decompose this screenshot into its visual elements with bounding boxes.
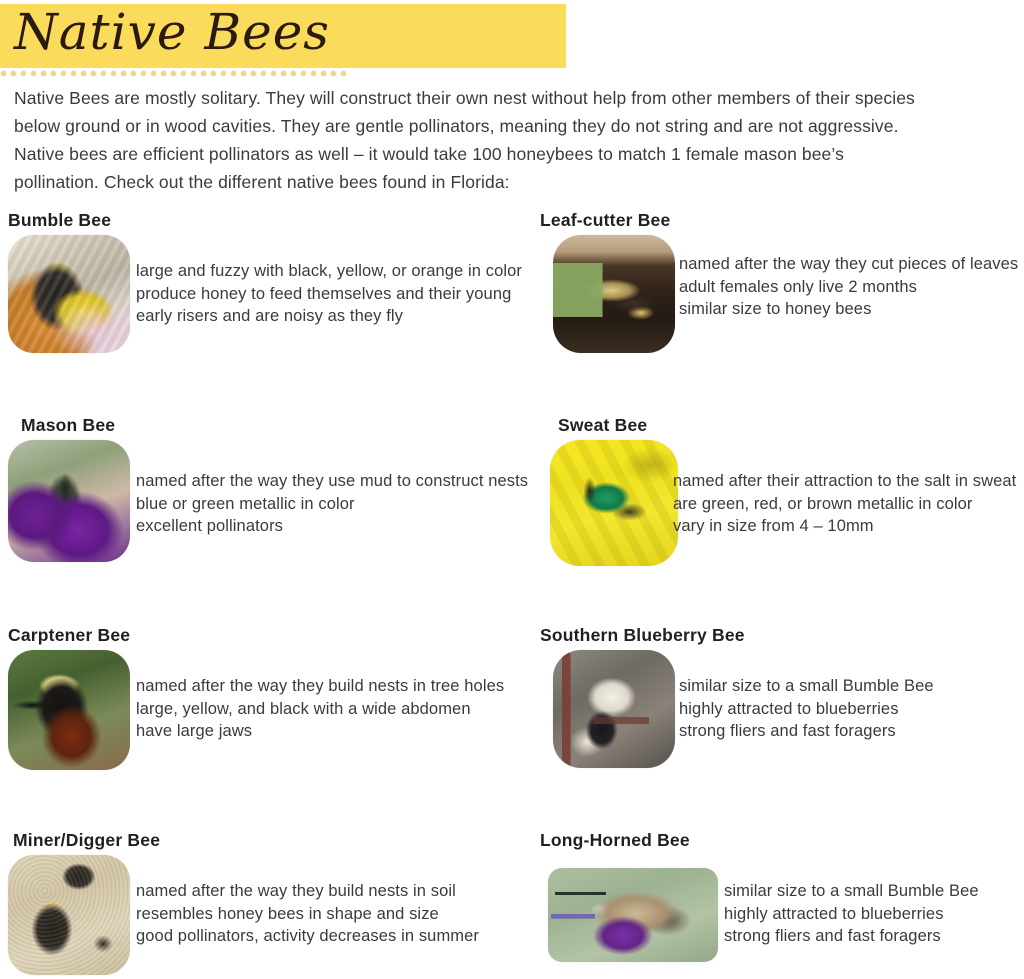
bee-name: Long-Horned Bee (540, 830, 690, 851)
bee-facts: named after the way they cut pieces of l… (679, 253, 1018, 321)
intro-paragraph: Native Bees are mostly solitary. They wi… (14, 84, 1014, 196)
sweat-bee-photo (550, 440, 678, 566)
bee-name: Leaf-cutter Bee (540, 210, 670, 231)
bee-fact: good pollinators, activity decreases in … (136, 925, 479, 948)
bumble-bee-photo (8, 235, 130, 353)
bee-entry-bumble-bee: Bumble Bee large and fuzzy with black, y… (8, 210, 528, 360)
bee-facts: named after their attraction to the salt… (673, 470, 1016, 538)
dotted-divider (0, 70, 348, 77)
intro-line: below ground or in wood cavities. They a… (14, 112, 1014, 140)
bee-fact: highly attracted to blueberries (724, 903, 979, 926)
bee-fact: vary in size from 4 – 10mm (673, 515, 1016, 538)
bee-name: Carptener Bee (8, 625, 130, 646)
bee-entry-miner-digger-bee: Miner/Digger Bee named after the way the… (8, 830, 528, 979)
long-horned-bee-photo (548, 868, 718, 962)
bee-fact: named after the way they use mud to cons… (136, 470, 528, 493)
bee-name: Southern Blueberry Bee (540, 625, 745, 646)
bee-fact: strong fliers and fast foragers (724, 925, 979, 948)
southern-blueberry-bee-photo (553, 650, 675, 768)
bee-entry-southern-blueberry-bee: Southern Blueberry Bee similar size to a… (540, 625, 1024, 775)
bee-fact: adult females only live 2 months (679, 276, 1018, 299)
carpenter-bee-photo (8, 650, 130, 770)
bee-name: Bumble Bee (8, 210, 111, 231)
bee-fact: named after the way they cut pieces of l… (679, 253, 1018, 276)
bee-name: Miner/Digger Bee (13, 830, 160, 851)
bee-facts: similar size to a small Bumble Bee highl… (679, 675, 934, 743)
title-banner: Native Bees (0, 4, 566, 68)
bee-entry-carpenter-bee: Carptener Bee named after the way they b… (8, 625, 528, 775)
bee-fact: similar size to a small Bumble Bee (724, 880, 979, 903)
miner-digger-bee-photo (8, 855, 130, 975)
bee-fact: are green, red, or brown metallic in col… (673, 493, 1016, 516)
bee-entry-leaf-cutter-bee: Leaf-cutter Bee named after the way they… (540, 210, 1024, 360)
bee-fact: similar size to honey bees (679, 298, 1018, 321)
intro-line: pollination. Check out the different nat… (14, 168, 1014, 196)
bee-entry-sweat-bee: Sweat Bee named after their attraction t… (540, 415, 1024, 565)
bee-facts: named after the way they use mud to cons… (136, 470, 528, 538)
bee-fact: excellent pollinators (136, 515, 528, 538)
bee-fact: have large jaws (136, 720, 504, 743)
bee-fact: similar size to a small Bumble Bee (679, 675, 934, 698)
leaf-cutter-bee-photo (553, 235, 675, 353)
bee-fact: resembles honey bees in shape and size (136, 903, 479, 926)
intro-line: Native Bees are mostly solitary. They wi… (14, 84, 1014, 112)
bee-entry-long-horned-bee: Long-Horned Bee similar size to a small … (540, 830, 1024, 979)
bee-fact: produce honey to feed themselves and the… (136, 283, 522, 306)
intro-line: Native bees are efficient pollinators as… (14, 140, 1014, 168)
native-bees-infographic: Native Bees Native Bees are mostly solit… (0, 0, 1024, 979)
bee-fact: blue or green metallic in color (136, 493, 528, 516)
bee-fact: early risers and are noisy as they fly (136, 305, 522, 328)
bee-facts: named after the way they build nests in … (136, 675, 504, 743)
bee-fact: named after the way they build nests in … (136, 675, 504, 698)
bee-name: Mason Bee (21, 415, 115, 436)
bee-facts: large and fuzzy with black, yellow, or o… (136, 260, 522, 328)
mason-bee-photo (8, 440, 130, 562)
bee-fact: named after the way they build nests in … (136, 880, 479, 903)
bee-fact: named after their attraction to the salt… (673, 470, 1016, 493)
bee-name: Sweat Bee (558, 415, 647, 436)
bee-facts: named after the way they build nests in … (136, 880, 479, 948)
bee-fact: large and fuzzy with black, yellow, or o… (136, 260, 522, 283)
bee-entry-mason-bee: Mason Bee named after the way they use m… (8, 415, 528, 565)
bee-facts: similar size to a small Bumble Bee highl… (724, 880, 979, 948)
bee-fact: large, yellow, and black with a wide abd… (136, 698, 504, 721)
page-title: Native Bees (14, 0, 330, 64)
bee-fact: strong fliers and fast foragers (679, 720, 934, 743)
bee-fact: highly attracted to blueberries (679, 698, 934, 721)
